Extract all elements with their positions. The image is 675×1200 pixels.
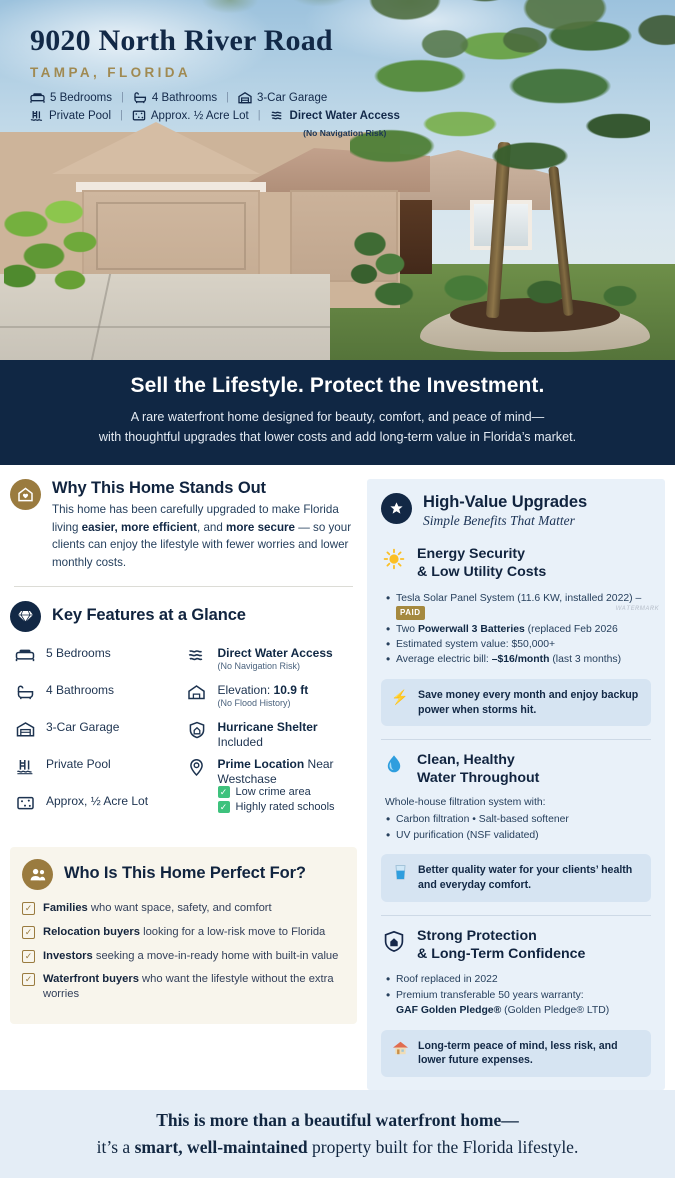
section-divider (14, 586, 353, 587)
spec-water-access: Direct Water Access (No Navigation Risk) (270, 109, 400, 138)
elevation-house-icon-wrap (186, 683, 208, 700)
kf-check-schools: ✓ Highly rated schools (186, 801, 358, 813)
footer-line2-post: property built for the Florida lifestyle… (308, 1137, 579, 1157)
pool-ladder-icon-wrap (14, 757, 36, 775)
list-item: ✓ Relocation buyers looking for a low-ri… (22, 925, 345, 940)
value-proposition-banner: Sell the Lifestyle. Protect the Investme… (0, 360, 675, 465)
kf-check-schools-label: Highly rated schools (236, 801, 335, 813)
spec-separator-4: | (256, 109, 263, 121)
kf-pool-label: Private Pool (46, 757, 111, 772)
house-heart-icon-badge (10, 479, 41, 510)
pf-item-text: Relocation buyers looking for a low-risk… (43, 925, 325, 940)
shrub-row (370, 270, 660, 316)
closing-statement-banner: This is more than a beautiful waterfront… (0, 1090, 675, 1178)
upgrades-subtitle: Simple Benefits That Matter (423, 513, 587, 529)
footer-line2-bold: smart, well-maintained (135, 1137, 308, 1157)
energy-bullets: Tesla Solar Panel System (11.6 KW, insta… (381, 591, 651, 668)
hero-spec-row-2: Private Pool | Approx. ½ Acre Lot | (30, 109, 400, 138)
garage-icon (16, 721, 35, 737)
perfect-for-list: ✓ Families who want space, safety, and c… (22, 901, 345, 1001)
kf-bathrooms: 4 Bathrooms (14, 683, 186, 720)
water-callout: Better quality water for your clients’ h… (381, 854, 651, 902)
lot-area-icon (16, 795, 35, 811)
kf-elevation-note: (No Flood History) (218, 698, 309, 709)
kf-bedrooms-label: 5 Bedrooms (46, 646, 111, 661)
key-features-left-col: 5 Bedrooms 4 Bathrooms (14, 646, 186, 831)
energy-bill-pre: Average electric bill: (396, 654, 492, 665)
water-bullets: Carbon filtration • Salt-based softener … (381, 812, 651, 843)
protection-bullets: Roof replaced in 2022 Premium transferab… (381, 972, 651, 1018)
kf-prime-location-bold: Prime Location (218, 757, 305, 771)
pf-item-text: Families who want space, safety, and com… (43, 901, 272, 916)
pf-item-bold: Relocation buyers (43, 926, 140, 938)
key-features-grid: 5 Bedrooms 4 Bathrooms (10, 646, 357, 831)
shield-home-icon (188, 721, 206, 739)
spec-lot-label: Approx. ½ Acre Lot (151, 110, 249, 122)
energy-bullet-batteries: Two Powerwall 3 Batteries (replaced Feb … (385, 622, 651, 637)
bathtub-icon (133, 91, 147, 104)
spec-lot: Approx. ½ Acre Lot (132, 109, 249, 122)
check-icon: ✓ (22, 950, 35, 963)
kf-hurricane-bold: Hurricane Shelter (218, 720, 318, 734)
pool-ladder-icon (30, 109, 44, 122)
list-item: ✓ Families who want space, safety, and c… (22, 901, 345, 916)
pf-item-text: Investors seeking a move-in-ready home w… (43, 949, 338, 964)
spec-garage: 3-Car Garage (238, 91, 327, 104)
key-features-header: Key Features at a Glance (10, 601, 357, 632)
energy-bullet-value: Estimated system value: $50,000+ (385, 637, 651, 652)
bed-icon (30, 91, 45, 104)
bed-icon (15, 647, 35, 663)
kf-prime-location-text: Prime Location Near Westchase (218, 757, 358, 787)
hero-spec-row-1: 5 Bedrooms | 4 Bathrooms | (30, 91, 400, 104)
spec-water-access-label: Direct Water Access (290, 110, 400, 122)
energy-bill-post: (last 3 months) (549, 654, 621, 665)
protection-title-line2: & Long-Term Confidence (417, 946, 585, 962)
kf-water-access-note: (No Navigation Risk) (218, 661, 333, 672)
energy-batteries-bold: Powerwall 3 Batteries (418, 624, 525, 635)
protection-section-header: Strong Protection & Long-Term Confidence (381, 928, 651, 964)
check-icon: ✓ (218, 786, 230, 798)
right-divider-2 (381, 915, 651, 916)
energy-batteries-post: (replaced Feb 2026 (525, 624, 618, 635)
pf-item-text: Waterfront buyers who want the lifestyle… (43, 972, 345, 1001)
page-title: 9020 North River Road (30, 24, 400, 58)
protection-bullet-roof: Roof replaced in 2022 (385, 972, 651, 987)
water-glass-icon (394, 864, 407, 881)
star-icon (388, 500, 405, 517)
main-content: Why This Home Stands Out This home has b… (0, 465, 675, 1090)
water-drop-icon-wrap (381, 752, 407, 776)
kf-elevation: Elevation: 10.9 ft (No Flood History) (186, 683, 358, 720)
spec-separator-2: | (224, 91, 231, 103)
why-section-header: Why This Home Stands Out This home has b… (10, 479, 357, 571)
footer-line-1: This is more than a beautiful waterfront… (156, 1110, 518, 1131)
spec-bedrooms-label: 5 Bedrooms (50, 92, 112, 104)
water-section-header: Clean, Healthy Water Throughout (381, 752, 651, 788)
footer-line2-pre: it’s a (97, 1137, 135, 1157)
kf-elevation-value: 10.9 ft (274, 683, 309, 697)
kf-hurricane-text: Hurricane Shelter Included (218, 720, 358, 750)
map-pin-icon-wrap (186, 757, 208, 777)
energy-bullet-solar: Tesla Solar Panel System (11.6 KW, insta… (385, 591, 651, 622)
pf-item-bold: Waterfront buyers (43, 973, 139, 985)
spec-pool-label: Private Pool (49, 110, 111, 122)
upgrades-header: High-Value Upgrades Simple Benefits That… (381, 493, 651, 529)
banner-headline: Sell the Lifestyle. Protect the Investme… (0, 374, 675, 398)
kf-elevation-prefix: Elevation: (218, 683, 274, 697)
diamond-icon-badge (10, 601, 41, 632)
kf-elevation-text: Elevation: 10.9 ft (No Flood History) (218, 683, 309, 709)
footer-line-2: it’s a smart, well-maintained property b… (97, 1137, 579, 1158)
list-item: ✓ Waterfront buyers who want the lifesty… (22, 972, 345, 1001)
kf-garage-label: 3-Car Garage (46, 720, 119, 735)
protection-callout-text: Long-term peace of mind, less risk, and … (418, 1039, 641, 1069)
people-icon-badge (22, 859, 53, 890)
why-body-b1: easier, more efficient (82, 521, 197, 534)
perfect-for-title: Who Is This Home Perfect For? (64, 859, 306, 883)
spec-bedrooms: 5 Bedrooms (30, 91, 112, 104)
people-icon (29, 867, 47, 882)
water-drop-icon (385, 754, 403, 776)
garage-icon (238, 91, 252, 104)
why-body-p2: , and (197, 521, 226, 534)
shield-home-icon-wrap (381, 928, 407, 954)
waves-icon-wrap (186, 646, 208, 664)
kf-check-low-crime: ✓ Low crime area (186, 786, 358, 798)
house-icon (391, 1039, 409, 1059)
spec-water-access-note: (No Navigation Risk) (283, 128, 386, 138)
water-callout-text: Better quality water for your clients’ h… (418, 863, 641, 893)
kf-lot-label: Approx, ½ Acre Lot (46, 794, 148, 809)
water-title-line2: Water Throughout (417, 770, 539, 786)
kf-bedrooms: 5 Bedrooms (14, 646, 186, 683)
overhanging-tree-canopy (365, 0, 675, 120)
star-icon-badge (381, 493, 412, 524)
right-divider-1 (381, 739, 651, 740)
shield-home-icon-wrap (186, 720, 208, 739)
pf-item-rest: looking for a low-risk move to Florida (140, 926, 325, 938)
pf-item-bold: Investors (43, 950, 93, 962)
energy-bullet-bill: Average electric bill: –$16/month (last … (385, 652, 651, 667)
waves-icon (270, 109, 285, 122)
bed-icon-wrap (14, 646, 36, 663)
energy-bill-bold: –$16/month (492, 654, 550, 665)
pool-ladder-icon (16, 758, 35, 775)
status-badge-paid: PAID (396, 606, 425, 620)
check-icon: ✓ (218, 801, 230, 813)
sun-icon (383, 548, 405, 570)
banner-subtext: A rare waterfront home designed for beau… (0, 407, 675, 448)
kf-water-access: Direct Water Access (No Navigation Risk) (186, 646, 358, 683)
protection-title-line1: Strong Protection (417, 928, 537, 944)
check-icon: ✓ (22, 926, 35, 939)
check-icon: ✓ (22, 973, 35, 986)
spec-bathrooms: 4 Bathrooms (133, 91, 217, 104)
water-glass-icon (391, 863, 409, 884)
bathtub-icon (16, 684, 35, 700)
diamond-icon (17, 609, 34, 624)
pf-item-rest: who want space, safety, and comfort (88, 902, 272, 914)
sun-icon-wrap (381, 546, 407, 570)
house-icon (392, 1040, 409, 1056)
spec-garage-label: 3-Car Garage (257, 92, 327, 104)
watermark: ᴡᴀᴛᴇʀᴍᴀʀᴋ (616, 603, 659, 612)
house-heart-icon (17, 486, 34, 503)
hero-photo: 9020 North River Road TAMPA, FLORIDA 5 B… (0, 0, 675, 360)
kf-check-low-crime-label: Low crime area (236, 786, 311, 798)
garage-icon-wrap (14, 720, 36, 737)
right-column-upgrades-panel: High-Value Upgrades Simple Benefits That… (367, 479, 665, 1090)
kf-bathrooms-label: 4 Bathrooms (46, 683, 114, 698)
water-intro: Whole-house filtration system with: (381, 797, 651, 808)
perfect-for-card: Who Is This Home Perfect For? ✓ Families… (10, 847, 357, 1024)
energy-title-line2: & Low Utility Costs (417, 564, 546, 580)
hero-spec-strip: 5 Bedrooms | 4 Bathrooms | (30, 91, 400, 138)
hero-text-overlay: 9020 North River Road TAMPA, FLORIDA 5 B… (30, 24, 400, 143)
protection-bullet-warranty: Premium transferable 50 years warranty: … (385, 988, 651, 1019)
kf-hurricane-shelter: Hurricane Shelter Included (186, 720, 358, 757)
topiary-tree (348, 224, 410, 290)
banner-line-2: with thoughtful upgrades that lower cost… (99, 430, 576, 444)
energy-batteries-pre: Two (396, 624, 418, 635)
energy-section-header: Energy Security & Low Utility Costs (381, 546, 651, 582)
water-title: Clean, Healthy Water Throughout (417, 752, 539, 788)
check-icon: ✓ (22, 902, 35, 915)
spec-separator: | (119, 91, 126, 103)
left-tropical-bush (4, 194, 100, 302)
waves-icon (187, 647, 207, 664)
pf-item-bold: Families (43, 902, 88, 914)
kf-garage: 3-Car Garage (14, 720, 186, 757)
kf-water-access-text: Direct Water Access (No Navigation Risk) (218, 646, 333, 672)
kf-lot: Approx, ½ Acre Lot (14, 794, 186, 831)
water-bullet-filtration: Carbon filtration • Salt-based softener (385, 812, 651, 827)
energy-title-line1: Energy Security (417, 546, 525, 562)
spec-separator-3: | (118, 109, 125, 121)
energy-callout: ⚡ Save money every month and enjoy backu… (381, 679, 651, 727)
spec-pool: Private Pool (30, 109, 111, 122)
kf-prime-location: Prime Location Near Westchase (186, 757, 358, 783)
bathtub-icon-wrap (14, 683, 36, 700)
kf-hurricane-rest: Included (218, 735, 263, 749)
list-item: ✓ Investors seeking a move-in-ready home… (22, 949, 345, 964)
protection-warranty-rest: (Golden Pledge® LTD) (501, 1005, 609, 1016)
key-features-title: Key Features at a Glance (52, 601, 246, 625)
protection-warranty-text: Premium transferable 50 years warranty: (396, 990, 584, 1001)
water-title-line1: Clean, Healthy (417, 752, 515, 768)
shield-home-icon (383, 930, 405, 954)
water-bullet-uv: UV purification (NSF validated) (385, 828, 651, 843)
why-section-title: Why This Home Stands Out (52, 479, 357, 498)
garage-door-double (82, 190, 260, 282)
lightning-bolt-icon: ⚡ (391, 688, 409, 706)
protection-title: Strong Protection & Long-Term Confidence (417, 928, 585, 964)
city-subtitle: TAMPA, FLORIDA (30, 65, 400, 80)
energy-bullet-solar-text: Tesla Solar Panel System (11.6 KW, insta… (396, 593, 641, 604)
key-features-right-col: Direct Water Access (No Navigation Risk)… (186, 646, 358, 831)
why-body-b2: more secure (226, 521, 295, 534)
protection-callout: Long-term peace of mind, less risk, and … (381, 1030, 651, 1078)
map-pin-icon (188, 758, 205, 777)
spec-bathrooms-label: 4 Bathrooms (152, 92, 217, 104)
kf-pool: Private Pool (14, 757, 186, 794)
kf-water-access-label: Direct Water Access (218, 646, 333, 660)
perfect-for-header: Who Is This Home Perfect For? (22, 859, 345, 890)
lot-area-icon (132, 109, 146, 122)
protection-warranty-bold: GAF Golden Pledge® (396, 1005, 501, 1016)
why-section-body: This home has been carefully upgraded to… (52, 501, 357, 571)
lot-area-icon-wrap (14, 794, 36, 811)
upgrades-title: High-Value Upgrades (423, 493, 587, 512)
energy-callout-text: Save money every month and enjoy backup … (418, 688, 641, 718)
energy-title: Energy Security & Low Utility Costs (417, 546, 546, 582)
banner-line-1: A rare waterfront home designed for beau… (131, 410, 544, 424)
pf-item-rest: seeking a move-in-ready home with built-… (93, 950, 339, 962)
elevation-house-icon (187, 684, 206, 700)
left-column: Why This Home Stands Out This home has b… (10, 479, 357, 1090)
